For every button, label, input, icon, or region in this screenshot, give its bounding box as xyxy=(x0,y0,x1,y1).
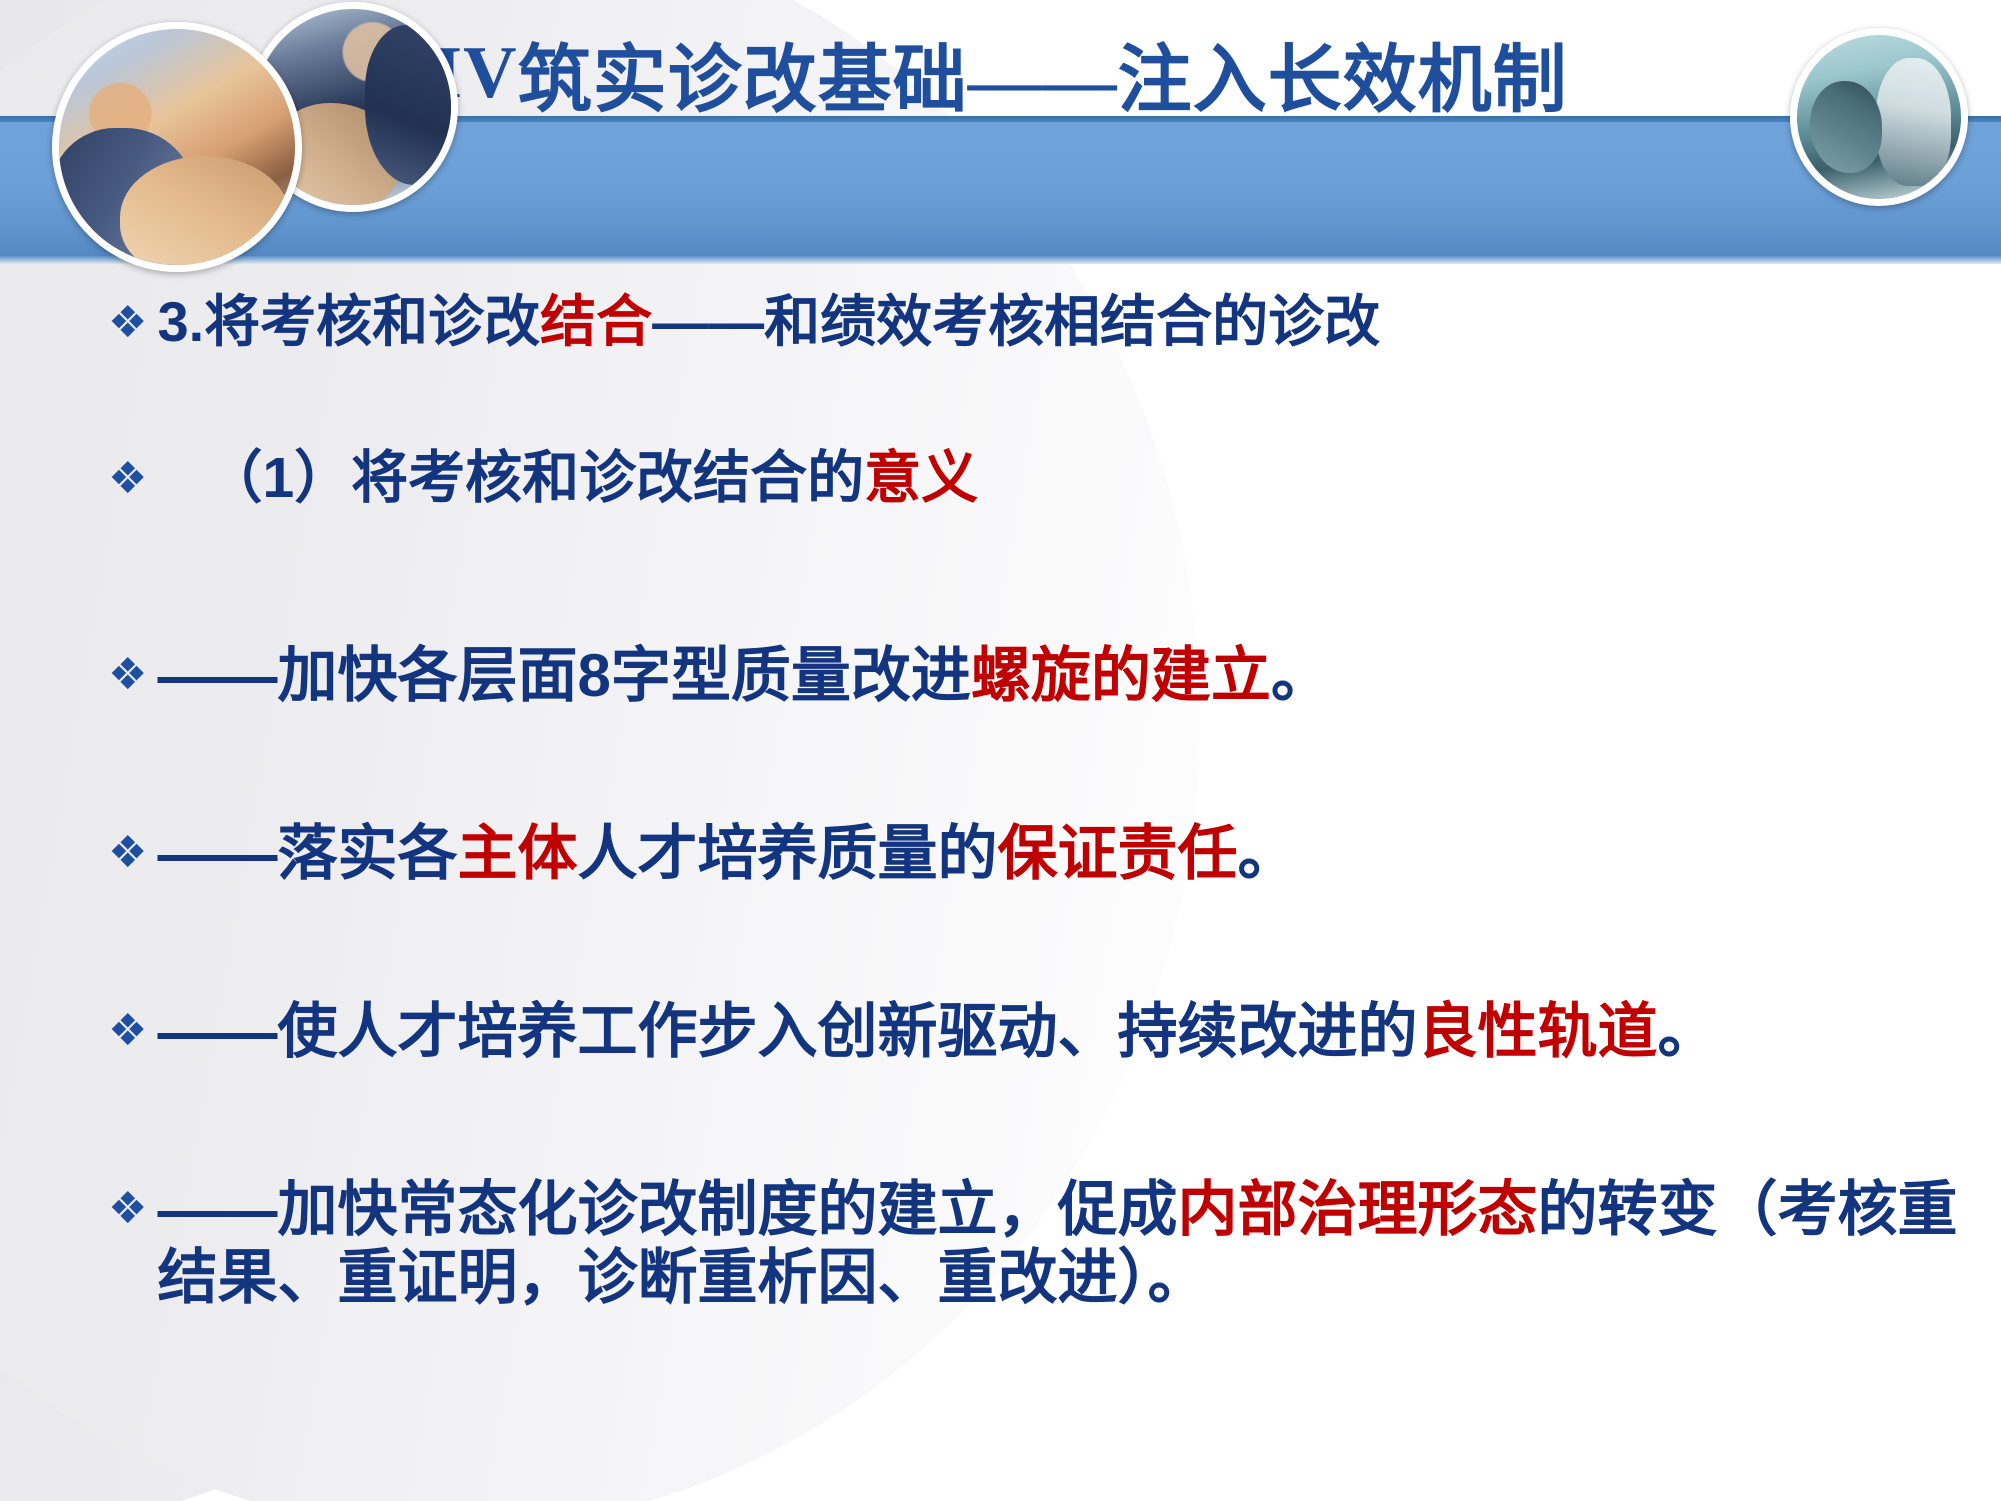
bullet-segment-emphasis: 螺旋的建立 xyxy=(971,642,1271,709)
bullet-text: ——使人才培养工作步入创新驱动、持续改进的良性轨道。 xyxy=(147,998,1717,1066)
bullet-marker-icon: ❖ xyxy=(108,642,147,697)
bullet-segment: 。 xyxy=(1657,998,1717,1065)
bullet-text: ——加快常态化诊改制度的建立，促成内部治理形态的转变（考核重结果、重证明，诊断重… xyxy=(147,1176,1957,1313)
bullet-segment-emphasis: 良性轨道 xyxy=(1417,998,1657,1065)
bullet-item: ❖ ——加快常态化诊改制度的建立，促成内部治理形态的转变（考核重结果、重证明，诊… xyxy=(108,1176,1957,1313)
bullet-marker-icon: ❖ xyxy=(108,290,147,345)
presenter-whiteboard-photo xyxy=(1797,35,1961,199)
bullet-segment: ——使人才培养工作步入创新驱动、持续改进的 xyxy=(157,998,1417,1065)
bullet-segment-emphasis: 保证责任 xyxy=(997,820,1237,887)
bullet-marker-icon: ❖ xyxy=(108,820,147,875)
bullet-item: ❖ ——落实各主体人才培养质量的保证责任。 xyxy=(108,820,1297,888)
bullet-item: ❖ 3.将考核和诊改结合——和绩效考核相结合的诊改 xyxy=(108,290,1380,354)
title-band-bottom-rule xyxy=(0,256,2001,264)
bullet-segment: ——加快各层面8字型质量改进 xyxy=(157,642,970,709)
bullet-item: ❖ ——使人才培养工作步入创新驱动、持续改进的良性轨道。 xyxy=(108,998,1717,1066)
page-title-text: 筑实诊改基础——注入长效机制 xyxy=(518,20,1568,127)
bullet-item: ❖ （1）将考核和诊改结合的意义 xyxy=(108,446,978,511)
bullet-segment: （1）将考核和诊改结合的 xyxy=(205,446,864,510)
bullet-segment: ——和绩效考核相结合的诊改 xyxy=(652,290,1380,353)
bullet-marker-icon: ❖ xyxy=(108,998,147,1053)
bullet-segment: 3.将考核和诊改 xyxy=(157,290,540,353)
bullet-text: 3.将考核和诊改结合——和绩效考核相结合的诊改 xyxy=(147,290,1380,354)
medallion-business-laptop xyxy=(52,22,302,272)
bullet-segment: ——落实各 xyxy=(157,820,457,887)
bullet-segment: 。 xyxy=(1237,820,1297,887)
bullet-segment: ——加快常态化诊改制度的建立，促成 xyxy=(157,1176,1177,1243)
bullet-marker-icon: ❖ xyxy=(108,1176,147,1231)
bullet-text: ——加快各层面8字型质量改进螺旋的建立。 xyxy=(147,642,1330,710)
presentation-slide: IV筑实诊改基础——注入长效机制 ❖ 3.将考核和诊改结合——和绩效考核相结合的… xyxy=(0,0,2001,1501)
bullet-segment: 。 xyxy=(1271,642,1331,709)
bullet-segment-emphasis: 主体 xyxy=(457,820,577,887)
bullet-segment-emphasis: 意义 xyxy=(864,446,978,510)
medallion-presenter-whiteboard xyxy=(1790,28,1968,206)
bullet-segment-emphasis: 结合 xyxy=(540,290,652,353)
bullet-text: ——落实各主体人才培养质量的保证责任。 xyxy=(147,820,1297,888)
bullet-marker-icon: ❖ xyxy=(108,446,195,501)
business-people-laptop-photo xyxy=(59,29,295,265)
slide-body: ❖ 3.将考核和诊改结合——和绩效考核相结合的诊改 ❖ （1）将考核和诊改结合的… xyxy=(0,268,2001,1501)
bullet-item: ❖ ——加快各层面8字型质量改进螺旋的建立。 xyxy=(108,642,1331,710)
bullet-segment-emphasis: 内部治理形态 xyxy=(1177,1176,1537,1243)
bullet-text: （1）将考核和诊改结合的意义 xyxy=(195,446,978,511)
bullet-segment: 人才培养质量的 xyxy=(577,820,997,887)
